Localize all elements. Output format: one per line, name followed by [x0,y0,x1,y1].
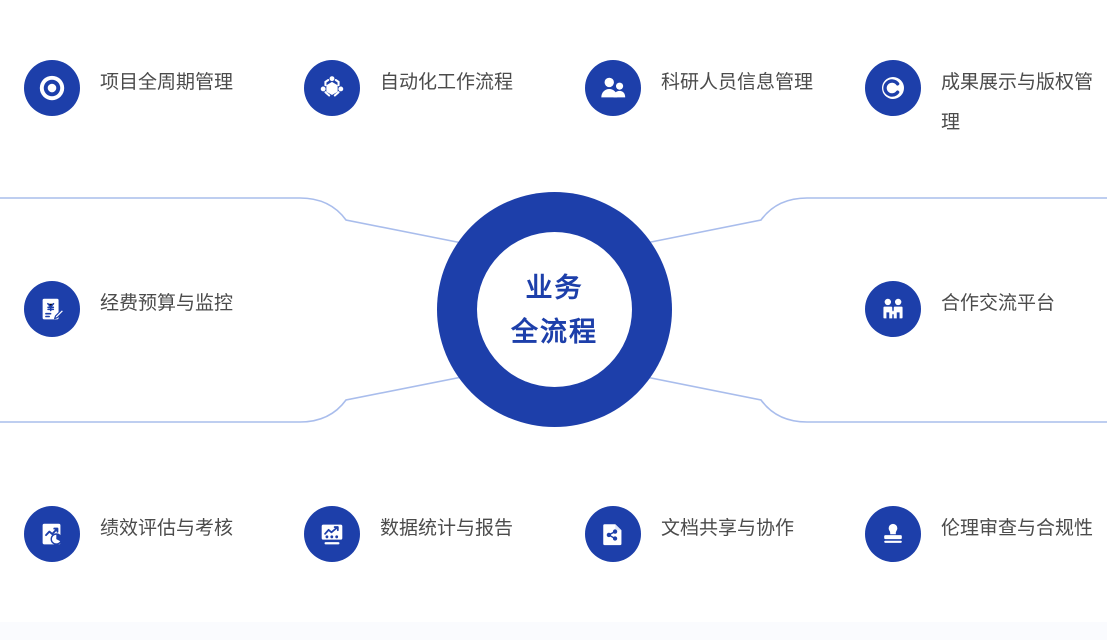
two-people-icon [585,60,641,116]
feature-item-automated-workflow[interactable]: 自动化工作流程 [304,58,513,116]
hub-inner-circle: 业务 全流程 [477,232,632,387]
connector-top-right [646,198,1107,243]
feature-label: 合作交流平台 [941,279,1055,323]
feature-item-document-sharing[interactable]: 文档共享与协作 [585,504,794,562]
monitor-chart-icon [304,506,360,562]
feature-item-collaboration[interactable]: 合作交流平台 [865,279,1055,337]
diagram-canvas: 业务 全流程 项目全周期管理 [0,0,1107,640]
hub-title-line-2: 全流程 [511,310,598,354]
hub-title-line-1: 业务 [526,266,584,310]
feature-label: 伦理审查与合规性 [941,504,1093,548]
connector-top-left [0,198,462,243]
feature-label: 绩效评估与考核 [100,504,233,548]
cycle-arrows-icon [24,60,80,116]
share-document-icon [585,506,641,562]
feature-label: 项目全周期管理 [100,58,233,102]
feature-item-data-report[interactable]: 数据统计与报告 [304,504,513,562]
chart-trend-icon [24,506,80,562]
feature-item-project-lifecycle[interactable]: 项目全周期管理 [24,58,233,116]
central-hub: 业务 全流程 [437,192,672,427]
feature-label: 经费预算与监控 [100,279,233,323]
feature-item-budget-monitoring[interactable]: 经费预算与监控 [24,279,233,337]
feature-label: 科研人员信息管理 [661,58,813,102]
connector-bottom-right [646,377,1107,422]
handshake-people-icon [865,281,921,337]
bottom-strip [0,622,1107,640]
connector-bottom-left [0,377,462,422]
yen-document-icon [24,281,80,337]
stamp-icon [865,506,921,562]
feature-label: 数据统计与报告 [380,504,513,548]
hexagon-network-icon [304,60,360,116]
feature-item-performance-review[interactable]: 绩效评估与考核 [24,504,233,562]
feature-label: 成果展示与版权管理 [941,58,1093,142]
feature-label: 文档共享与协作 [661,504,794,548]
feature-label: 自动化工作流程 [380,58,513,102]
feature-item-results-copyright[interactable]: 成果展示与版权管理 [865,58,1093,142]
feature-item-ethics-compliance[interactable]: 伦理审查与合规性 [865,504,1093,562]
copyright-icon [865,60,921,116]
feature-item-researcher-info[interactable]: 科研人员信息管理 [585,58,813,116]
